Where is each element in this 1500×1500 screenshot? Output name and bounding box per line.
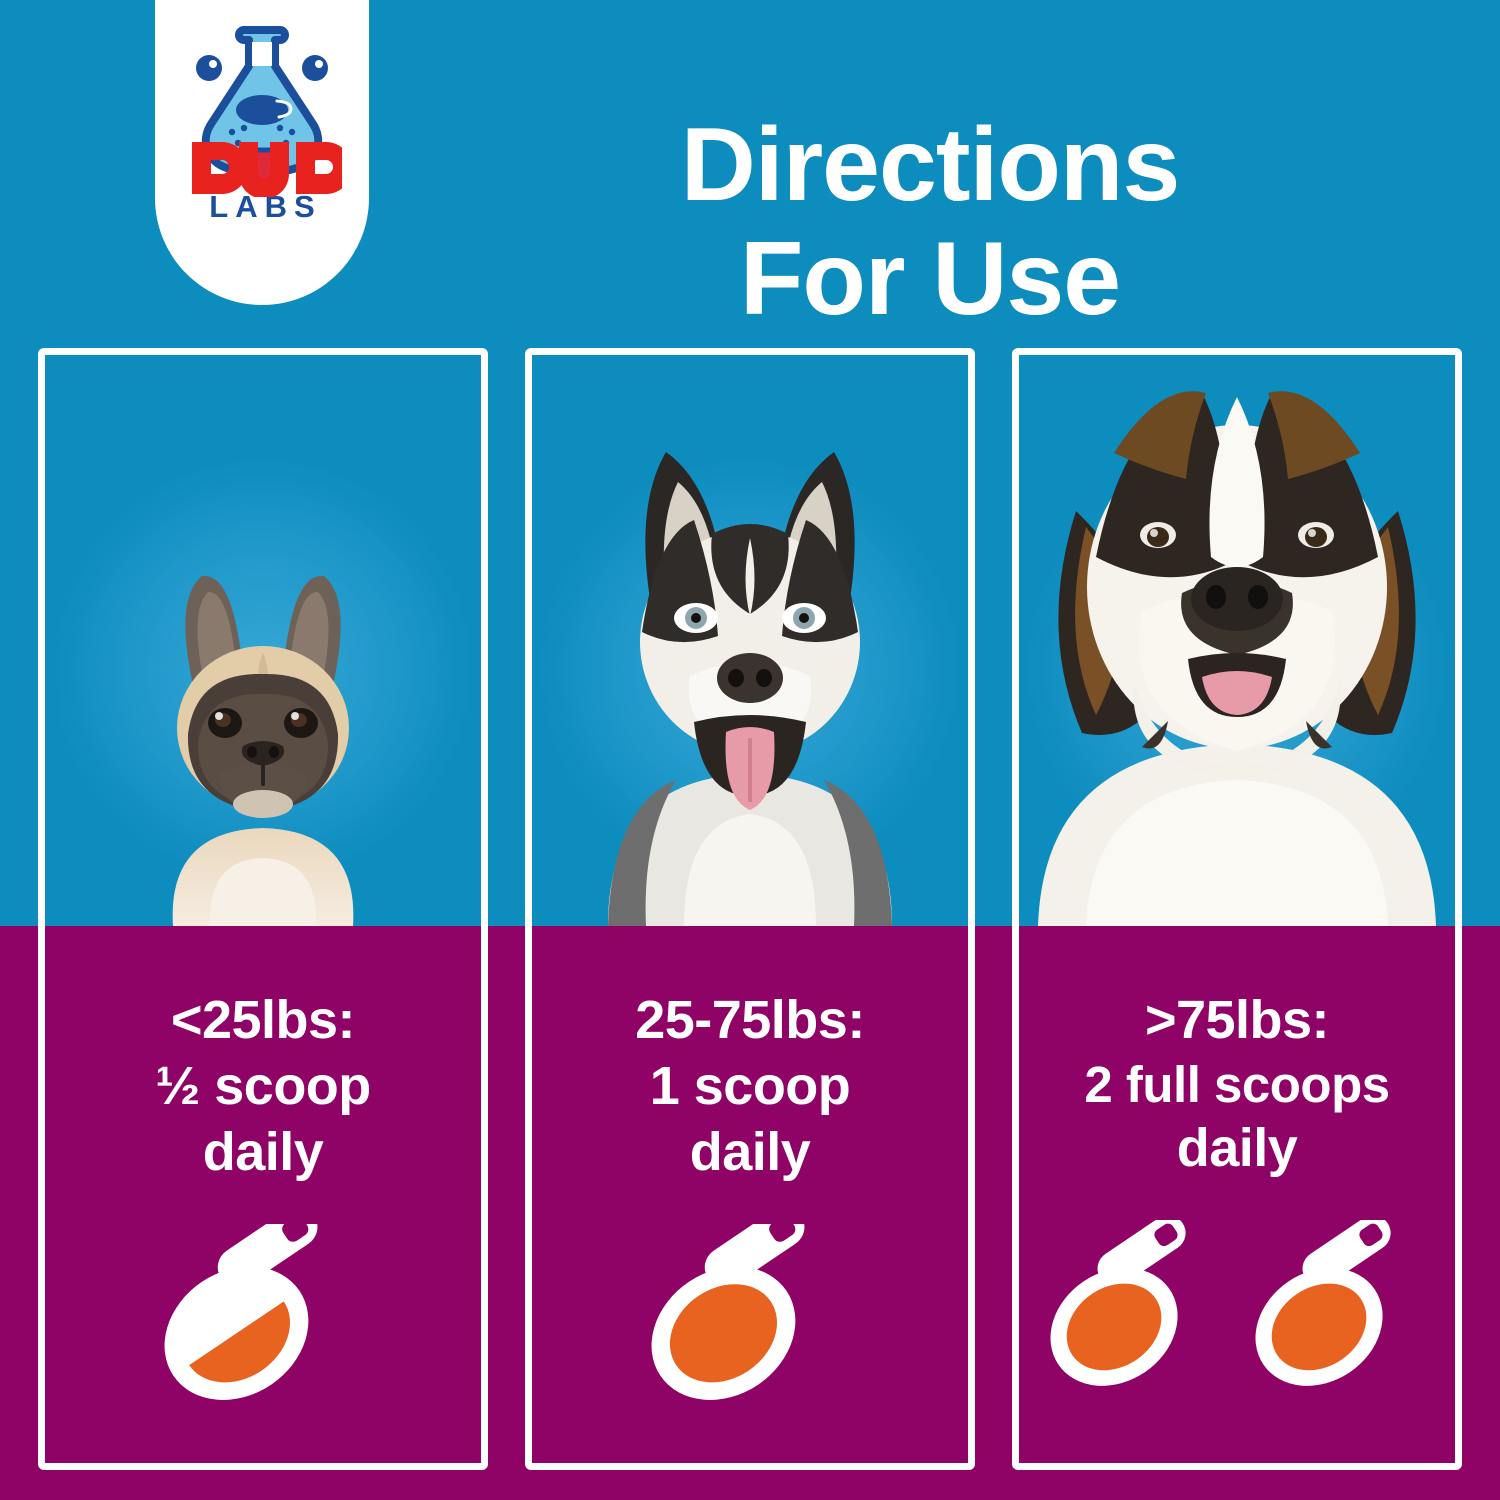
dosage-instructions: 25-75lbs: 1 scoop daily [532,988,968,1186]
dosage-panel-25-75lbs: 25-75lbs: 1 scoop daily [525,348,975,1470]
scoop-full-icon [1240,1220,1445,1398]
dosage-instructions: <25lbs: ½ scoop daily [45,988,481,1186]
siberian-husky-photo [580,426,920,926]
dosage-text-area: <25lbs: ½ scoop daily [45,926,481,1463]
scoop-icon-group [1022,1220,1458,1398]
saint-bernard-photo [1022,361,1452,926]
dosage-panel-over-75lbs: >75lbs: 2 full scoops daily [1012,348,1462,1470]
weight-range-label: >75lbs: [1019,988,1455,1054]
dosage-panel-group: <25lbs: ½ scoop daily [0,0,1500,1500]
dog-photo-area [532,355,968,926]
dosage-text-area: >75lbs: 2 full scoops daily [1019,926,1455,1463]
dose-frequency-label: daily [1019,1116,1455,1182]
weight-range-label: 25-75lbs: [532,988,968,1054]
dose-frequency-label: daily [45,1120,481,1186]
scoop-half-icon [147,1224,379,1402]
french-bulldog-photo [118,566,408,926]
dose-amount-label: 1 scoop [532,1054,968,1120]
scoop-full-icon [1035,1220,1240,1398]
scoop-icon-group [45,1224,481,1402]
dose-amount-label: ½ scoop [45,1054,481,1120]
dose-amount-label: 2 full scoops [1019,1054,1455,1116]
dosage-instructions: >75lbs: 2 full scoops daily [1019,988,1455,1182]
dose-frequency-label: daily [532,1120,968,1186]
weight-range-label: <25lbs: [45,988,481,1054]
directions-for-use-poster: PUP LABS Directions For Use [0,0,1500,1500]
dosage-text-area: 25-75lbs: 1 scoop daily [532,926,968,1463]
dog-photo-area [45,355,481,926]
dosage-panel-under-25lbs: <25lbs: ½ scoop daily [38,348,488,1470]
dog-photo-area [1019,355,1455,926]
scoop-full-icon [634,1224,866,1402]
scoop-icon-group [532,1224,968,1402]
